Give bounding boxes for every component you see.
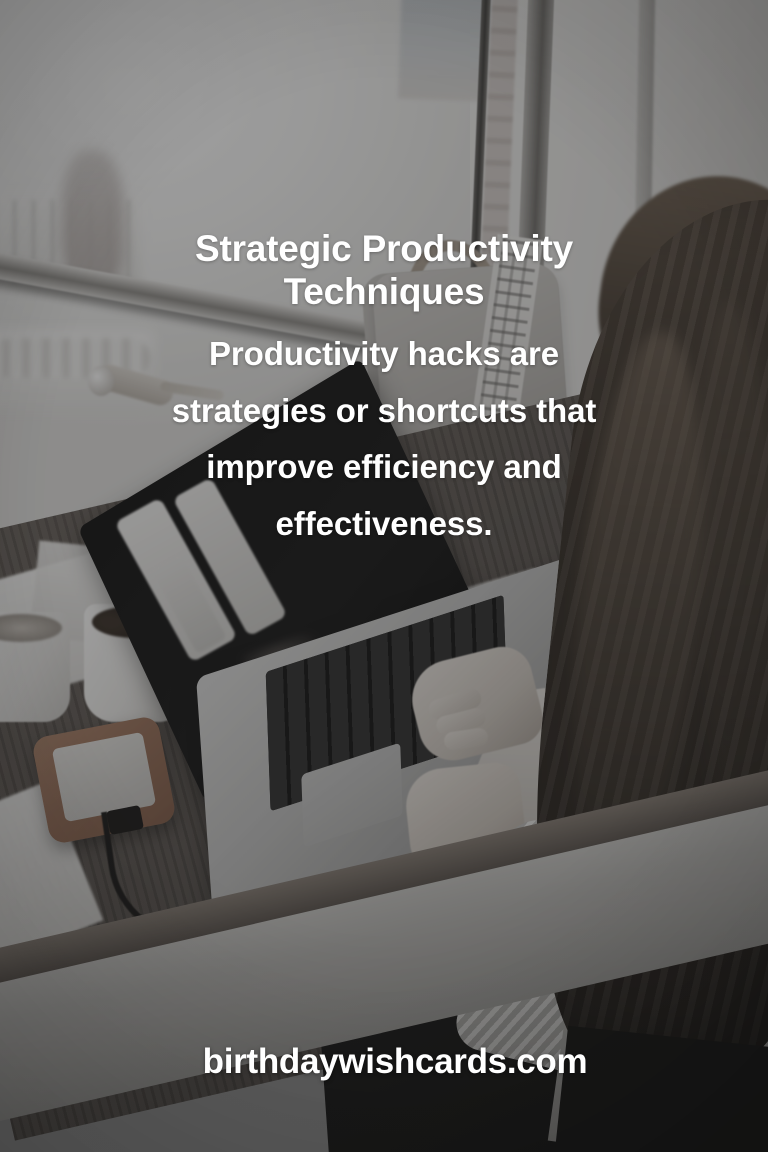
footer-website-url[interactable]: birthdaywishcards.com [0,1042,768,1082]
card-body-text: Productivity hacks are strategies or sho… [134,326,634,553]
quote-card: Strategic Productivity Techniques Produc… [0,0,768,1152]
text-overlay: Strategic Productivity Techniques Produc… [0,0,768,1152]
card-headline: Strategic Productivity Techniques [124,228,644,314]
